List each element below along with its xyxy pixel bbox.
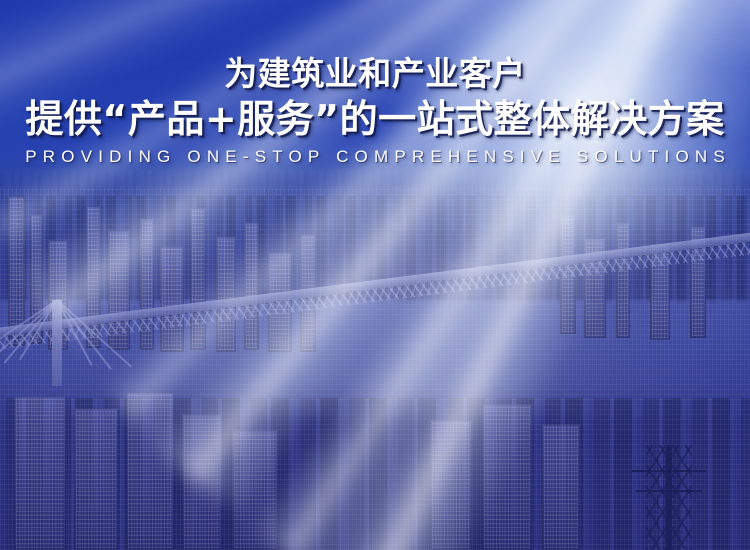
banner-subtitle: PROVIDING ONE-STOP COMPREHENSIVE SOLUTIO…	[0, 147, 750, 167]
headline-line-2: 提供“产品+服务”的一站式整体解决方案	[0, 100, 750, 138]
hero-banner: 为建筑业和产业客户 提供“产品+服务”的一站式整体解决方案 PROVIDING …	[0, 0, 750, 550]
headline-line-1: 为建筑业和产业客户	[0, 57, 750, 90]
